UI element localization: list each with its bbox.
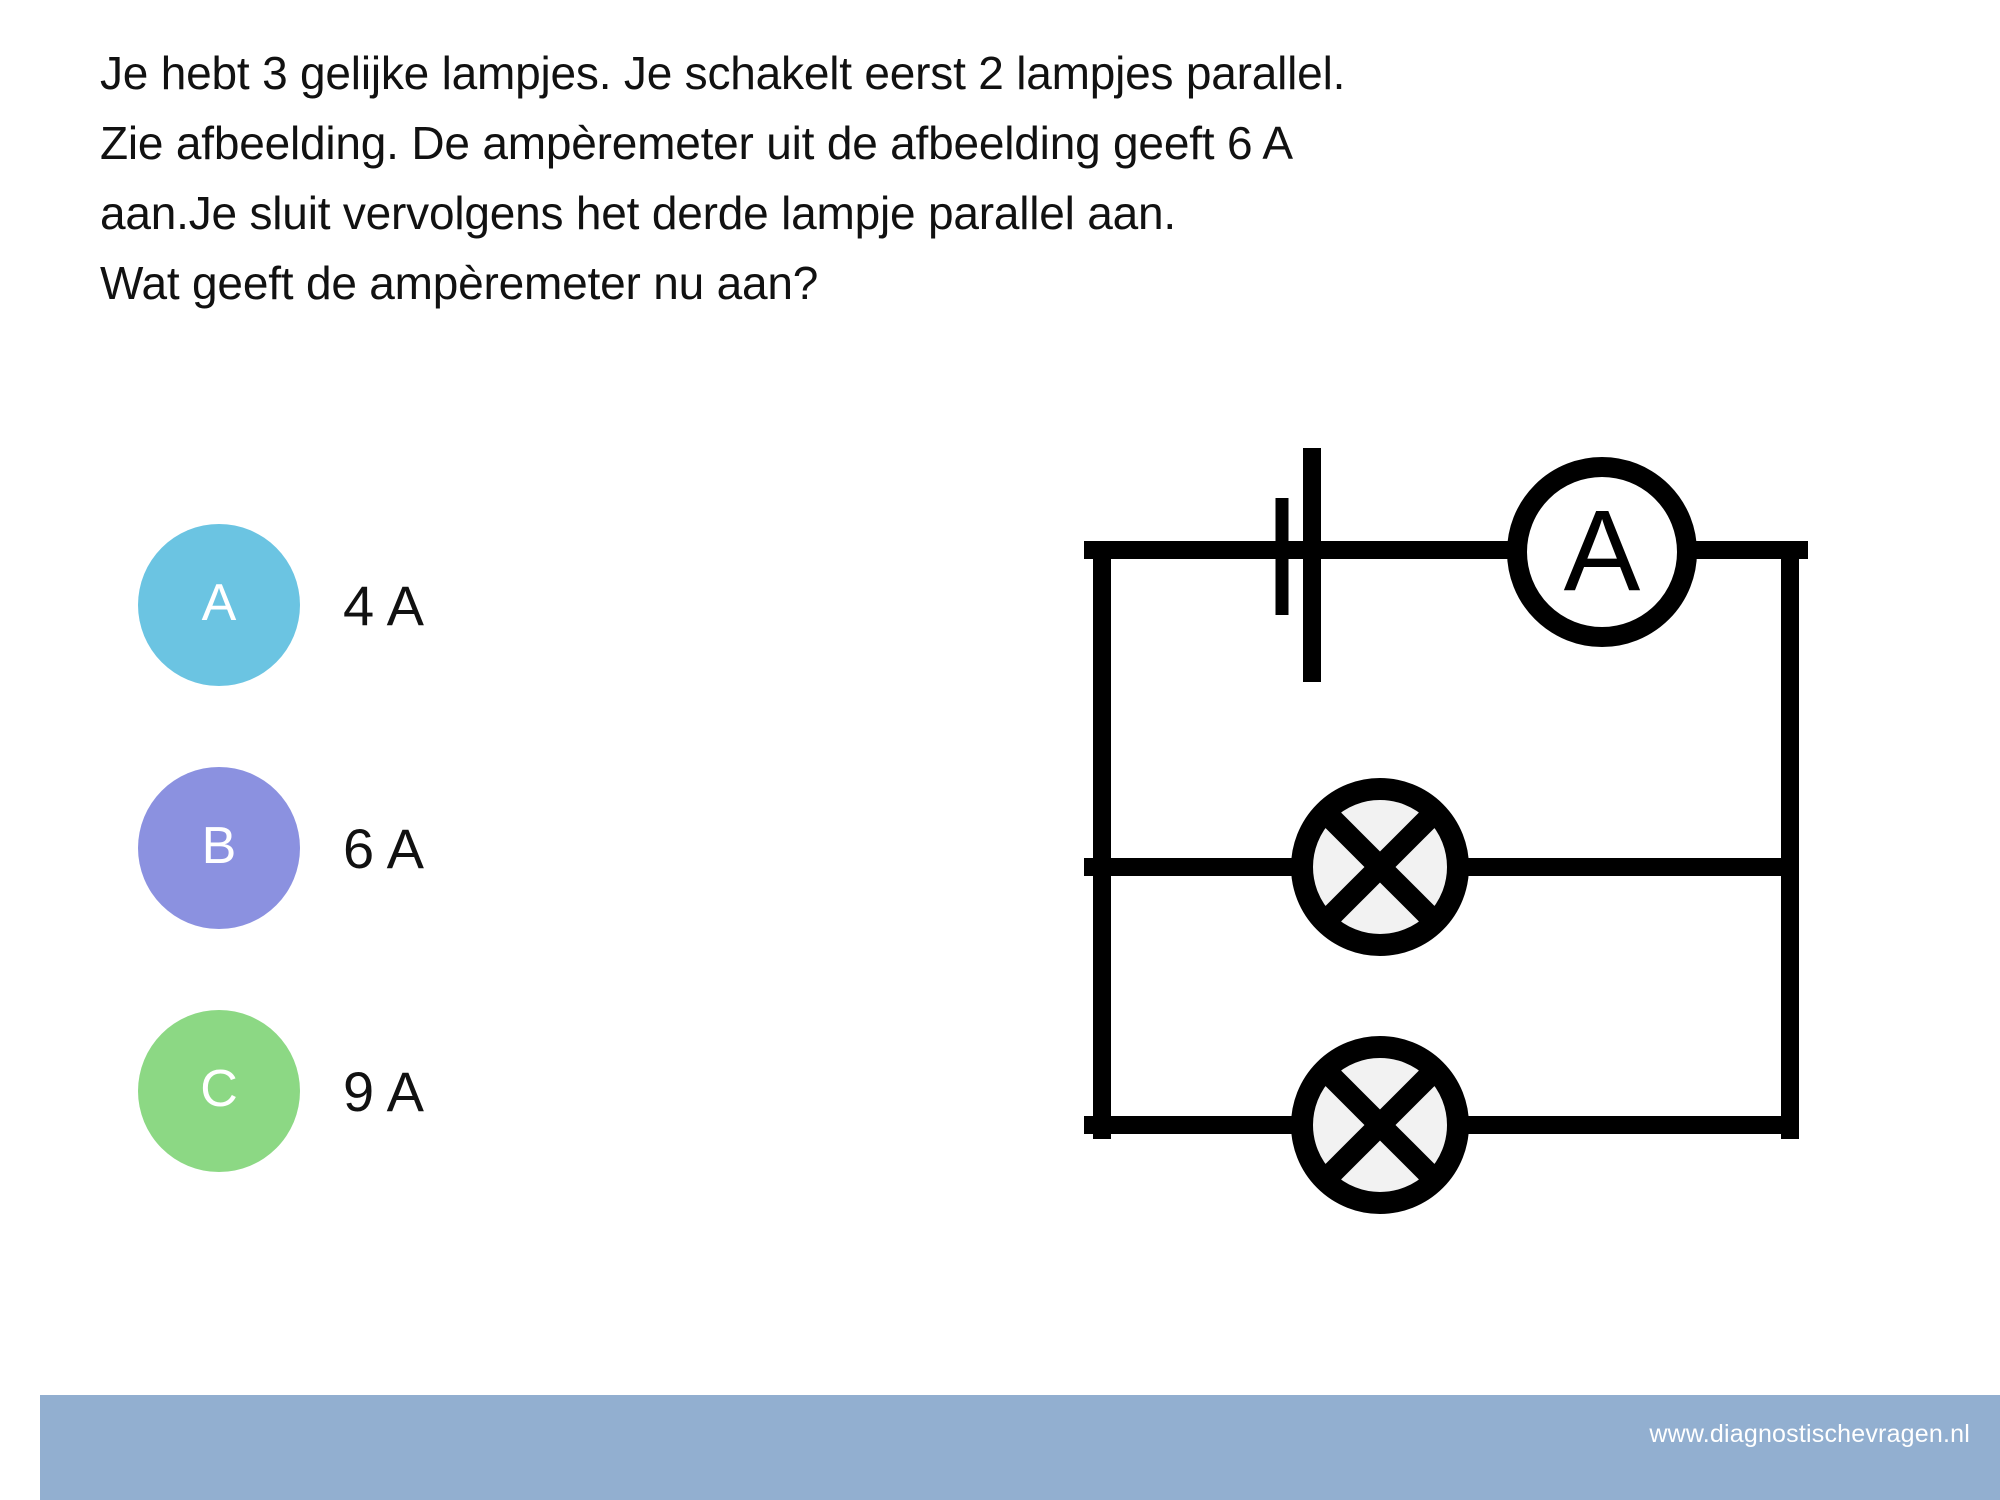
lamp-1-icon [1302, 789, 1458, 945]
lamp-2-icon [1302, 1047, 1458, 1203]
answer-label-c: 9 A [343, 1062, 424, 1122]
answer-label-a: 4 A [343, 576, 424, 636]
answer-option-a[interactable]: A 4 A [138, 524, 658, 767]
footer-website-url: www.diagnostischevragen.nl [1649, 1419, 1970, 1449]
footer-bar: www.diagnostischevragen.nl [40, 1395, 2000, 1500]
answer-options-list: A 4 A B 6 A C 9 A [138, 524, 658, 1253]
question-line-4: Wat geeft de ampèremeter nu aan? [100, 248, 1520, 318]
ammeter-icon: A [1517, 467, 1687, 637]
answer-bullet-c[interactable]: C [138, 1010, 300, 1172]
question-line-3: aan.Je sluit vervolgens het derde lampje… [100, 178, 1520, 248]
answer-option-b[interactable]: B 6 A [138, 767, 658, 1010]
answer-bullet-b[interactable]: B [138, 767, 300, 929]
answer-label-b: 6 A [343, 819, 424, 879]
circuit-diagram: A [1060, 420, 1880, 1220]
answer-letter-b: B [202, 820, 237, 872]
question-line-1: Je hebt 3 gelijke lampjes. Je schakelt e… [100, 38, 1520, 108]
answer-option-c[interactable]: C 9 A [138, 1010, 658, 1253]
ammeter-label: A [1564, 487, 1641, 615]
answer-letter-a: A [202, 577, 237, 629]
question-text-block: Je hebt 3 gelijke lampjes. Je schakelt e… [100, 38, 1520, 318]
question-line-2: Zie afbeelding. De ampèremeter uit de af… [100, 108, 1520, 178]
answer-letter-c: C [200, 1063, 238, 1115]
answer-bullet-a[interactable]: A [138, 524, 300, 686]
